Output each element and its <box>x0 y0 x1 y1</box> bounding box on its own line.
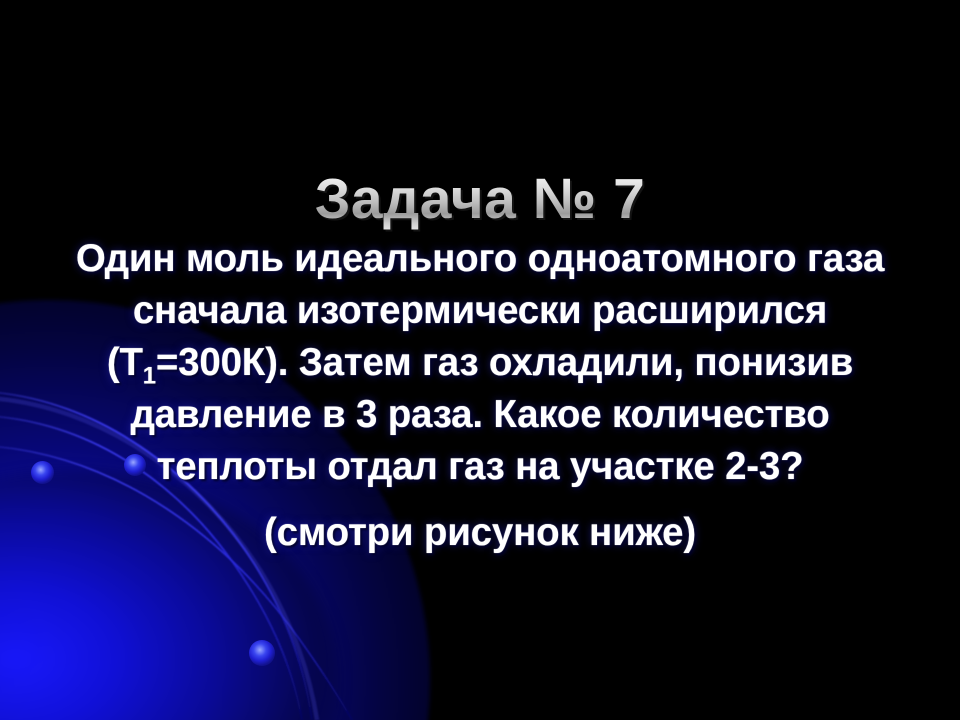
temperature-prefix: (Т <box>107 341 143 384</box>
temperature-suffix: =300К). Затем газ охладили, понизив <box>156 341 853 384</box>
slide-body-text: Один моль идеального одноатомного газа с… <box>30 233 930 559</box>
temperature-subscript: 1 <box>143 363 156 390</box>
body-line-5: теплоты отдал газ на участке 2-3? <box>30 441 930 493</box>
body-line-3: (Т1=300К). Затем газ охладили, понизив <box>30 337 930 389</box>
slide-title: Задача № 7 <box>0 169 960 231</box>
slide-content: Задача № 7 Один моль идеального одноатом… <box>0 0 960 720</box>
body-line-1: Один моль идеального одноатомного газа <box>30 233 930 285</box>
body-line-4: давление в 3 раза. Какое количество <box>30 389 930 441</box>
slide-footnote: (смотри рисунок ниже) <box>30 507 930 559</box>
presentation-slide: Задача № 7 Один моль идеального одноатом… <box>0 0 960 720</box>
body-line-2: сначала изотермически расширился <box>30 285 930 337</box>
